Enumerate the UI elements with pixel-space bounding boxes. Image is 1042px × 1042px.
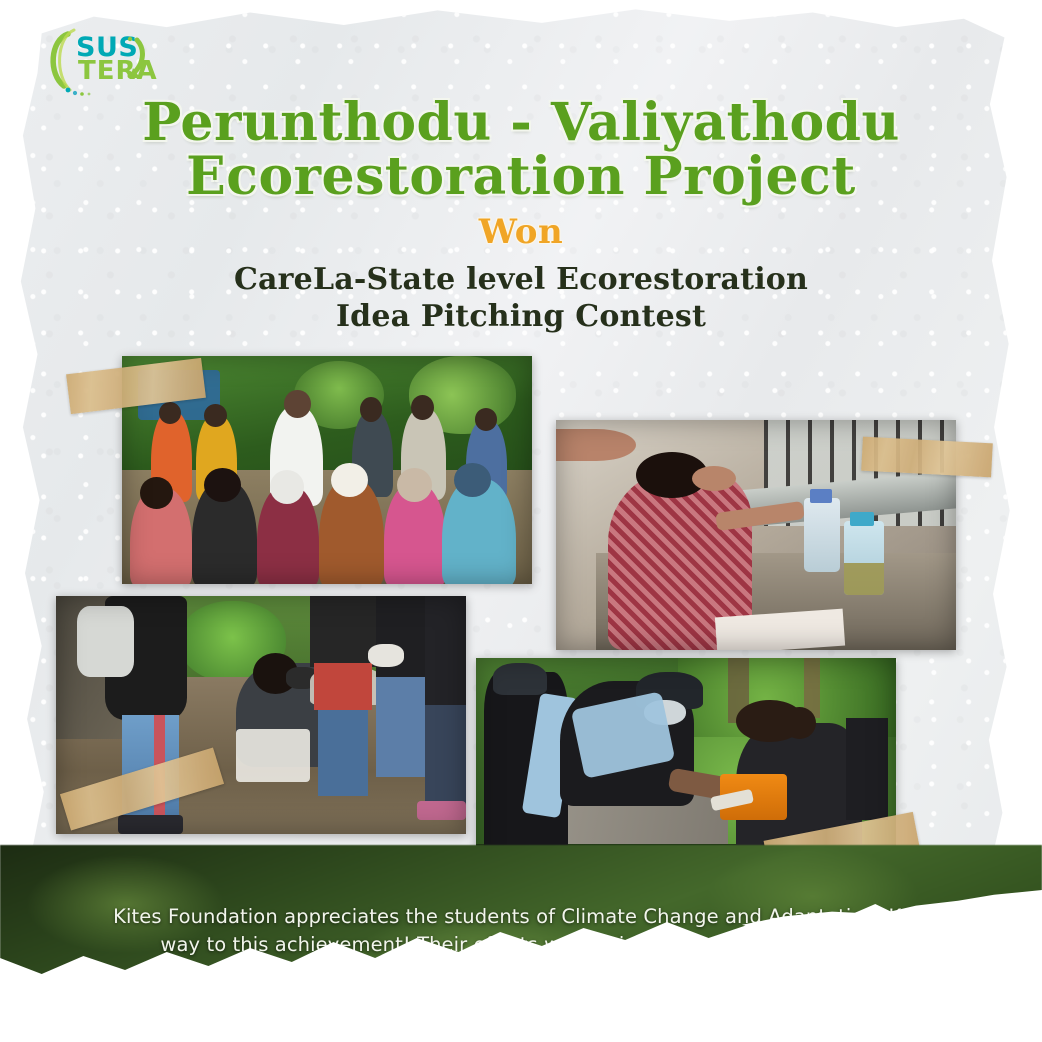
tape-strip-photo2-right	[861, 437, 993, 478]
poster-canvas: SUS TERA Perunthodu - Valiyathodu Ecores…	[0, 0, 1042, 1042]
